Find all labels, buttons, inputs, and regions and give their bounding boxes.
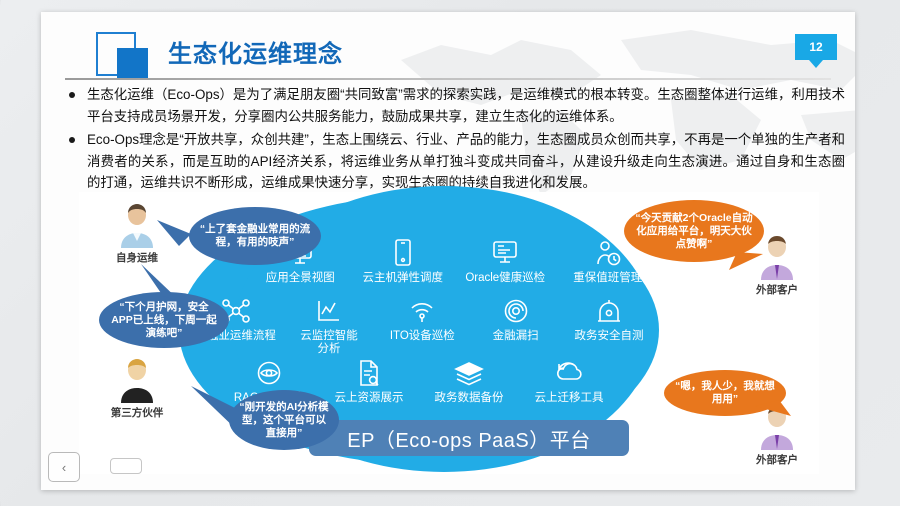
title-divider xyxy=(65,78,831,80)
capability-label: 应用全景视图 xyxy=(266,272,335,285)
chart-analysis-icon xyxy=(315,296,343,326)
ecosystem-diagram: 应用全景视图 云主机弹性调度 xyxy=(79,192,819,474)
capability-row-2: 金融业运维流程 云监控智能分析 xyxy=(189,296,749,356)
capability-ito-device-inspection[interactable]: ITO设备巡检 xyxy=(376,296,469,356)
monitor-health-icon xyxy=(491,238,519,268)
capability-label: 金融漏扫 xyxy=(493,330,539,343)
security-dome-icon xyxy=(596,296,622,326)
disk-wrench-icon xyxy=(689,296,715,326)
capability-label: 云监控智能分析 xyxy=(299,330,359,356)
capability-label: 云上迁移工具 xyxy=(535,392,604,405)
capability-ssd-alert[interactable]: SSD硬盘预警 xyxy=(656,296,749,356)
capability-finance-vuln-scan[interactable]: 金融漏扫 xyxy=(469,296,562,356)
persona-external-customer-bottom: 外部客户 xyxy=(747,404,807,467)
person-clock-icon xyxy=(594,238,622,268)
capability-label: 云主机弹性调度 xyxy=(363,272,444,285)
capability-label: 云上资源展示 xyxy=(335,392,404,405)
slide-thumbnail-marker[interactable] xyxy=(110,458,142,474)
platform-bar: EP（Eco-ops PaaS）平台 xyxy=(309,420,629,456)
capability-cloud-resource-display[interactable]: 云上资源展示 xyxy=(319,358,419,405)
capability-gov-security-selftest[interactable]: 政务安全自测 xyxy=(562,296,655,356)
capability-cloud-monitor-analysis[interactable]: 云监控智能分析 xyxy=(282,296,375,356)
capability-label: 政务安全自测 xyxy=(574,330,643,343)
bullet-item: 生态化运维（Eco-Ops）是为了满足朋友圈“共同致富”需求的探索实践，是运维模… xyxy=(65,84,845,127)
persona-caption: 自身运维 xyxy=(107,250,167,265)
bullet-item: Eco-Ops理念是“开放共享，众创共建”，生态上围绕云、行业、产品的能力，生态… xyxy=(65,129,845,194)
spiral-scan-icon xyxy=(502,296,530,326)
capability-label: 重保值班管理 xyxy=(573,272,642,285)
persona-caption: 第三方伙伴 xyxy=(107,405,167,420)
operator-avatar xyxy=(115,202,159,248)
capability-label: SSD硬盘预警 xyxy=(667,330,737,343)
eye-switch-icon xyxy=(255,358,283,388)
page-title: 生态化运维理念 xyxy=(168,34,343,69)
persona-caption: 外部客户 xyxy=(747,282,807,297)
speech-bubble-self-ops-2: “下个月护网，安全APP已上线，下周一起演练吧” xyxy=(99,292,229,348)
persona-third-party: 第三方伙伴 xyxy=(107,357,167,420)
bullet-list: 生态化运维（Eco-Ops）是为了满足朋友圈“共同致富”需求的探索实践，是运维模… xyxy=(65,84,845,196)
speech-bubble-customer-bottom: “嗯，我人少，我就想用用” xyxy=(664,370,786,416)
customer-avatar xyxy=(755,234,799,280)
page-number-badge: 12 xyxy=(795,34,837,60)
persona-self-ops: 自身运维 xyxy=(107,202,167,265)
speech-bubble-self-ops-1: “上了套金融业常用的流程，有用的吱声” xyxy=(189,207,321,265)
previous-slide-button[interactable]: ‹ xyxy=(48,452,80,482)
speech-bubble-customer-top: “今天贡献2个Oracle自动化应用给平台，明天大伙点赞啊” xyxy=(624,200,764,262)
wifi-signal-icon xyxy=(408,296,436,326)
layers-backup-icon xyxy=(454,358,484,388)
persona-caption: 外部客户 xyxy=(747,452,807,467)
partner-avatar xyxy=(115,357,159,403)
mobile-host-icon xyxy=(393,238,413,268)
capability-cloud-host-scheduling[interactable]: 云主机弹性调度 xyxy=(352,238,455,285)
speech-bubble-third-party: “刚开发的AI分析模型，这个平台可以直接用” xyxy=(229,390,339,450)
document-search-icon xyxy=(357,358,381,388)
slide-viewer: 生态化运维理念 12 生态化运维（Eco-Ops）是为了满足朋友圈“共同致富”需… xyxy=(0,0,900,506)
capability-cloud-migration-tool[interactable]: 云上迁移工具 xyxy=(519,358,619,405)
capability-gov-data-backup[interactable]: 政务数据备份 xyxy=(419,358,519,405)
slide-sheet: 生态化运维理念 12 生态化运维（Eco-Ops）是为了满足朋友圈“共同致富”需… xyxy=(41,12,855,490)
capability-label: ITO设备巡检 xyxy=(390,330,455,343)
capability-label: 政务数据备份 xyxy=(435,392,504,405)
cloud-migrate-icon xyxy=(554,358,584,388)
capability-oracle-health-check[interactable]: Oracle健康巡检 xyxy=(454,238,557,285)
capability-label: Oracle健康巡检 xyxy=(465,272,545,285)
square-solid-icon xyxy=(117,48,148,80)
